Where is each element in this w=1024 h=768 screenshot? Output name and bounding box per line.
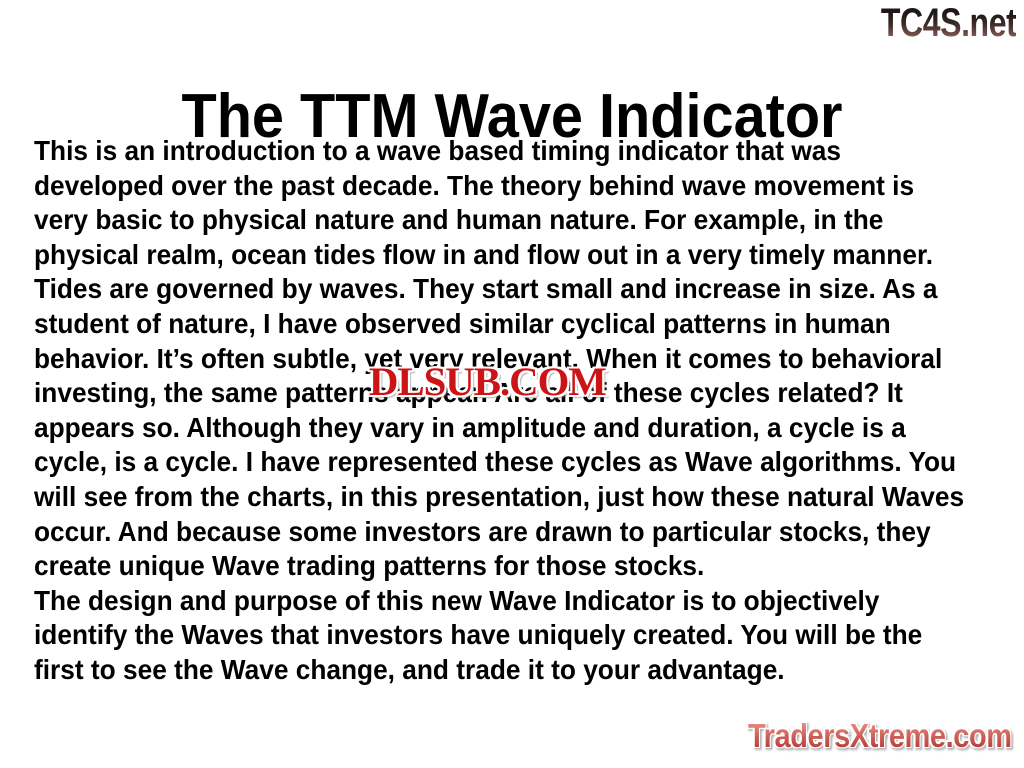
- body-text-block: This is an introduction to a wave based …: [34, 134, 965, 688]
- tradersxtreme-footer-logo: TradersXtreme.com: [748, 718, 1012, 754]
- body-paragraph-2: The design and purpose of this new Wave …: [34, 584, 965, 688]
- tc4s-brand-logo: TC4S.net: [881, 2, 1016, 44]
- presentation-slide: TC4S.net The TTM Wave Indicator This is …: [0, 0, 1024, 768]
- dlsub-watermark: DLSUB.COM: [369, 362, 606, 402]
